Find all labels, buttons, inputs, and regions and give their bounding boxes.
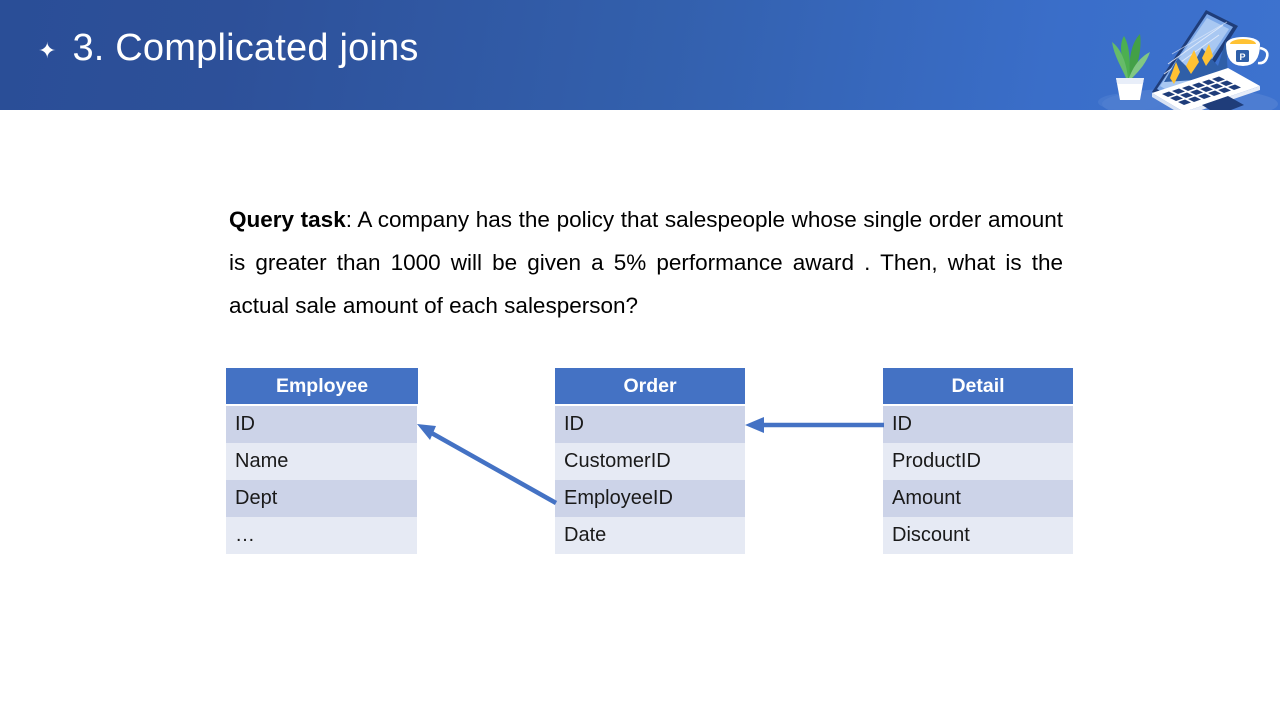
- er-table-detail-title: Detail: [883, 368, 1073, 404]
- er-field-order-date: Date: [555, 517, 745, 554]
- er-table-employee-title: Employee: [226, 368, 418, 404]
- er-field-detail-id: ID: [883, 406, 1073, 443]
- svg-text:P: P: [1239, 52, 1245, 62]
- er-table-order: Order ID CustomerID EmployeeID Date: [555, 368, 745, 554]
- query-task-text: : A company has the policy that salespeo…: [229, 207, 1063, 318]
- er-table-order-title: Order: [555, 368, 745, 404]
- relation-arrow-order-employee: [417, 424, 556, 503]
- relation-arrow-detail-order: [745, 417, 884, 433]
- er-field-employee-name: Name: [226, 443, 417, 480]
- isometric-laptop-desk-illustration: P: [1078, 0, 1278, 110]
- desk-shadow: [1102, 88, 1278, 110]
- query-task-paragraph: Query task: A company has the policy tha…: [229, 198, 1063, 327]
- er-field-order-customerid: CustomerID: [555, 443, 745, 480]
- page-title: 3. Complicated joins: [72, 27, 418, 70]
- er-field-detail-productid: ProductID: [883, 443, 1073, 480]
- er-field-detail-amount: Amount: [883, 480, 1073, 517]
- plant-shadow: [1098, 93, 1162, 110]
- er-field-order-id: ID: [555, 406, 745, 443]
- er-table-detail: Detail ID ProductID Amount Discount: [883, 368, 1073, 554]
- query-task-label: Query task: [229, 207, 346, 232]
- sparkle-icon: ✦: [38, 40, 56, 62]
- coffee-mug-icon: P: [1226, 37, 1267, 66]
- slide-header-band: ✦ 3. Complicated joins: [0, 0, 1280, 110]
- er-field-order-employeeid: EmployeeID: [555, 480, 745, 517]
- er-table-employee: Employee ID Name Dept …: [226, 368, 418, 554]
- er-field-employee-id: ID: [226, 406, 417, 443]
- er-field-employee-dept: Dept: [226, 480, 417, 517]
- slide-title-row: ✦ 3. Complicated joins: [38, 27, 419, 70]
- er-field-employee-more: …: [226, 517, 417, 554]
- potted-plant-icon: [1112, 34, 1150, 100]
- er-field-detail-discount: Discount: [883, 517, 1073, 554]
- laptop-icon: [1152, 10, 1260, 110]
